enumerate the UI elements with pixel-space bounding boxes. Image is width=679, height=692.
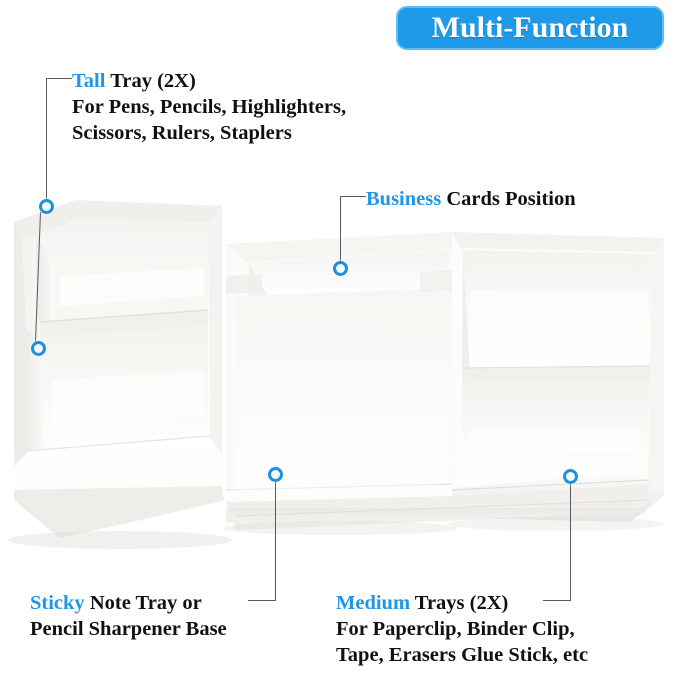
callout-tall-tray-highlight: Tall [72, 70, 105, 92]
callout-tall-tray-line-2: For Pens, Pencils, Highlighters, [72, 94, 346, 120]
marker-dot-sticky-note-tray[interactable] [268, 467, 283, 482]
infographic-page: Multi-Function Tall Tray (2X) For Pens, … [0, 0, 679, 692]
leader-business-horizontal [340, 196, 366, 197]
callout-business-cards-line-1: Business Cards Position [366, 186, 576, 212]
leader-medium-vertical [570, 476, 571, 601]
callout-medium-trays: Medium Trays (2X) For Paperclip, Binder … [336, 590, 588, 668]
callout-medium-trays-line-1-rest: Trays (2X) [410, 592, 508, 614]
leader-sticky-vertical [275, 474, 276, 601]
callout-business-cards: Business Cards Position [366, 186, 576, 212]
callout-sticky-note-tray: Sticky Note Tray or Pencil Sharpener Bas… [30, 590, 227, 642]
marker-dot-tall-tray-lower[interactable] [31, 341, 46, 356]
marker-dot-tall-tray-upper[interactable] [39, 199, 54, 214]
callout-tall-tray-line-1: Tall Tray (2X) [72, 68, 346, 94]
callout-business-cards-highlight: Business [366, 188, 441, 210]
callout-medium-trays-line-2: For Paperclip, Binder Clip, [336, 616, 588, 642]
leader-business-vertical [340, 196, 341, 268]
callout-medium-trays-highlight: Medium [336, 592, 410, 614]
callout-tall-tray: Tall Tray (2X) For Pens, Pencils, Highli… [72, 68, 346, 146]
leader-tall-horizontal [46, 78, 72, 79]
callout-sticky-note-tray-highlight: Sticky [30, 592, 85, 614]
callout-medium-trays-line-3: Tape, Erasers Glue Stick, etc [336, 642, 588, 668]
callout-tall-tray-line-1-rest: Tray (2X) [105, 70, 195, 92]
callout-sticky-note-tray-line-1: Sticky Note Tray or [30, 590, 227, 616]
callout-tall-tray-line-3: Scissors, Rulers, Staplers [72, 120, 346, 146]
leader-sticky-horizontal [248, 600, 276, 601]
marker-dot-medium-trays[interactable] [563, 469, 578, 484]
leader-tall-vertical [46, 78, 47, 206]
marker-dot-business-cards[interactable] [333, 261, 348, 276]
callout-business-cards-line-1-rest: Cards Position [441, 188, 575, 210]
callout-sticky-note-tray-line-1-rest: Note Tray or [85, 592, 202, 614]
callout-sticky-note-tray-line-2: Pencil Sharpener Base [30, 616, 227, 642]
multi-function-badge: Multi-Function [396, 6, 664, 50]
callout-medium-trays-line-1: Medium Trays (2X) [336, 590, 588, 616]
multi-function-badge-label: Multi-Function [432, 13, 629, 43]
